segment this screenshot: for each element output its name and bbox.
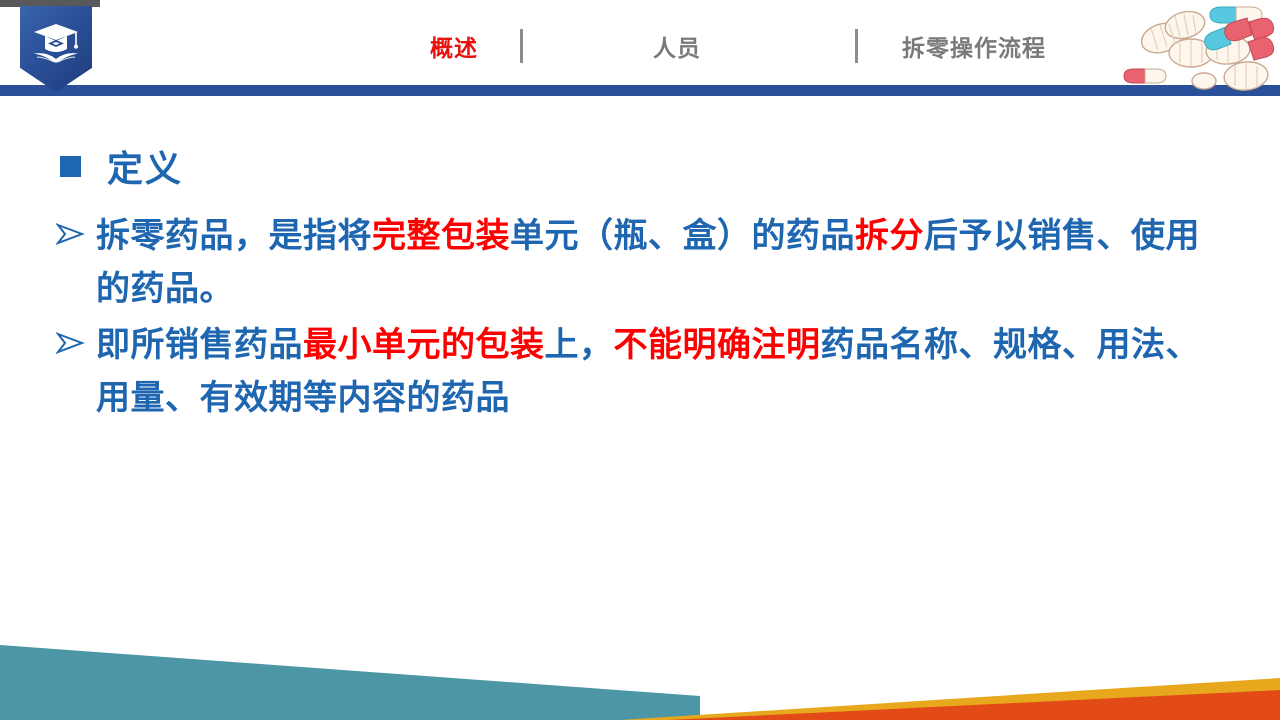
emphasis-text: 不能明确注明 <box>614 325 821 365</box>
logo-pennant <box>20 6 92 92</box>
tab-overview[interactable]: 概述 <box>430 29 478 63</box>
section-heading: 定义 <box>52 140 1228 192</box>
bullet-text-definition-2: 即所销售药品最小单元的包装上，不能明确注明药品名称、规格、用法、用量、有效期等内… <box>96 319 1228 424</box>
section-heading-text: 定义 <box>107 140 183 192</box>
emphasis-text: 最小单元的包装 <box>303 325 545 365</box>
arrow-bullet-icon <box>56 222 96 250</box>
bottom-decoration <box>0 590 1280 720</box>
pills-and-capsules-icon <box>1118 0 1280 100</box>
plain-text: 拆零药品，是指将 <box>96 216 372 256</box>
graduation-cap-book-icon <box>31 18 81 70</box>
nav-separator-2 <box>855 29 858 63</box>
slide-header: 概述 人员 拆零操作流程 <box>0 0 1280 96</box>
bullet-item-definition-1: 拆零药品，是指将完整包装单元（瓶、盒）的药品拆分后予以销售、使用的药品。 <box>52 210 1228 315</box>
bullet-text-definition-1: 拆零药品，是指将完整包装单元（瓶、盒）的药品拆分后予以销售、使用的药品。 <box>96 210 1228 315</box>
tab-dispensing-workflow[interactable]: 拆零操作流程 <box>902 29 1046 63</box>
deco-shape-teal <box>0 645 700 720</box>
plain-text: 上， <box>545 325 614 365</box>
header-divider-bar <box>0 85 1280 96</box>
emphasis-text: 完整包装 <box>372 216 510 256</box>
bullet-item-definition-2: 即所销售药品最小单元的包装上，不能明确注明药品名称、规格、用法、用量、有效期等内… <box>52 319 1228 424</box>
emphasis-text: 拆分 <box>855 216 924 256</box>
plain-text: 即所销售药品 <box>96 325 303 365</box>
arrow-bullet-icon <box>56 331 96 359</box>
square-bullet-icon <box>60 156 81 177</box>
pills-illustration <box>1118 0 1280 100</box>
tab-personnel[interactable]: 人员 <box>653 29 701 63</box>
slide-body: 定义 拆零药品，是指将完整包装单元（瓶、盒）的药品拆分后予以销售、使用的药品。 … <box>0 110 1280 550</box>
nav-separator-1 <box>520 29 523 63</box>
header-nav[interactable]: 概述 人员 拆零操作流程 <box>430 20 1070 72</box>
plain-text: 单元（瓶、盒）的药品 <box>510 216 855 256</box>
